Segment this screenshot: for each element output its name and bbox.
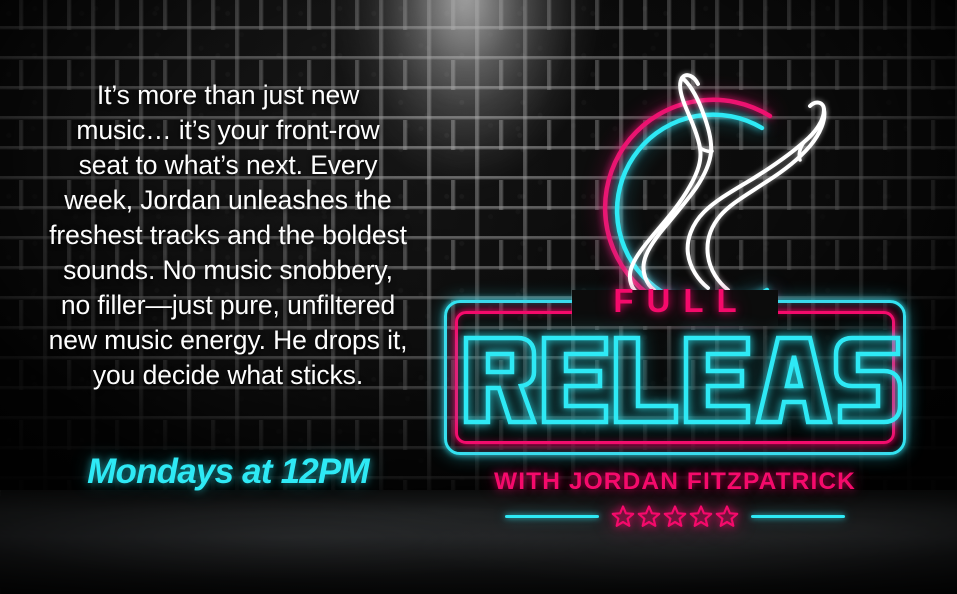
cyan-arc xyxy=(617,115,767,307)
neon-sign-frame: FULL xyxy=(444,300,906,455)
show-logo-lockup: FULL xyxy=(430,48,920,538)
star-icon xyxy=(663,504,687,528)
poster-canvas: It’s more than just new music… it’s your… xyxy=(0,0,957,594)
logo-word-release xyxy=(444,328,906,432)
left-leg-outline-inner xyxy=(643,78,711,290)
star-icon xyxy=(715,504,739,528)
star-icon xyxy=(689,504,713,528)
body-copy: It’s more than just new music… it’s your… xyxy=(48,78,408,393)
star-icon xyxy=(611,504,635,528)
star-group xyxy=(611,504,739,528)
star-icon xyxy=(637,504,661,528)
logo-word-full: FULL xyxy=(444,282,906,320)
divider-rule-right xyxy=(751,515,845,518)
divider-rule-left xyxy=(505,515,599,518)
rating-stars-row xyxy=(430,504,920,528)
schedule-text: Mondays at 12PM xyxy=(48,452,408,492)
host-credit: WITH JORDAN FITZPATRICK xyxy=(430,468,920,496)
description-block: It’s more than just new music… it’s your… xyxy=(48,78,408,393)
kicking-legs-illustration xyxy=(548,48,848,308)
